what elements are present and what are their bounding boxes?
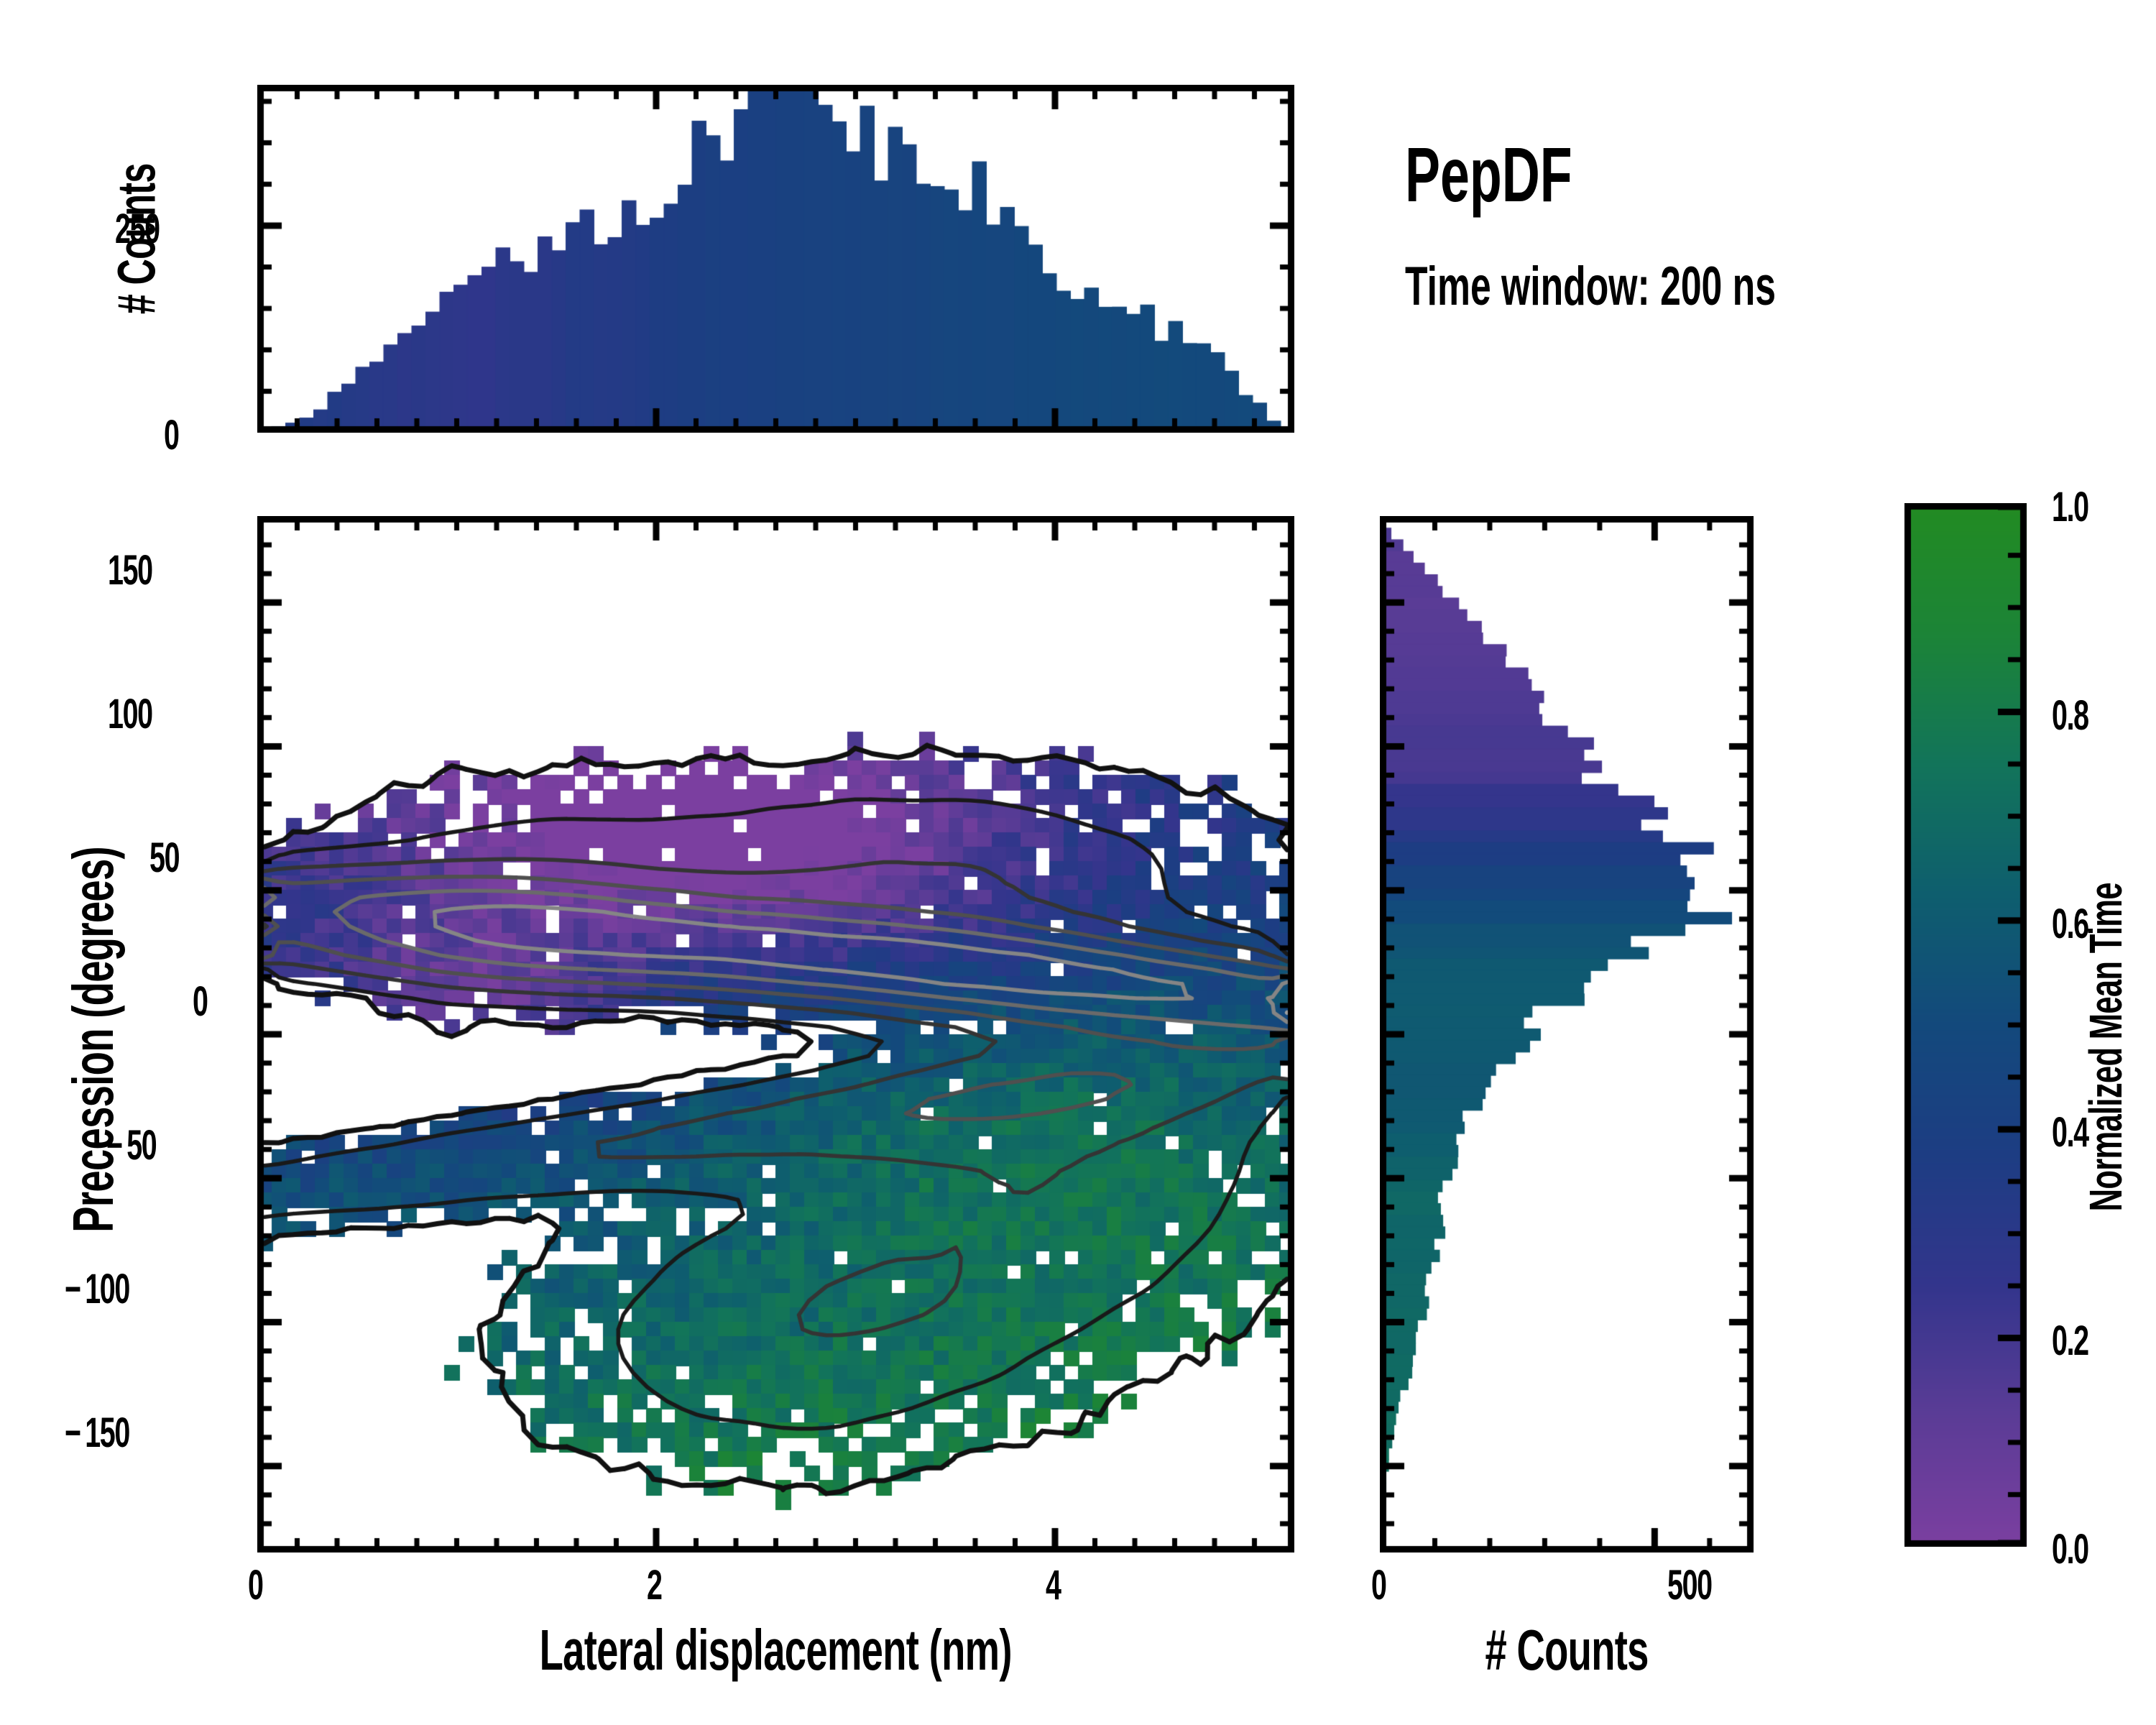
- figure-root: PepDF Time window: 200 ns # Counts 0 250…: [0, 0, 2156, 1725]
- colorbar-tick-0-6: 0.6: [2052, 900, 2106, 948]
- colorbar-axes: [1904, 503, 2048, 1547]
- top-histogram-axes: [257, 85, 1294, 433]
- right-histogram-axes: [1380, 516, 1754, 1552]
- figure-title: PepDF: [1405, 129, 1651, 219]
- colorbar-tick-0-0: 0.0: [2052, 1525, 2106, 1573]
- figure-subtitle: Time window: 200 ns: [1405, 255, 1950, 318]
- figure-subtitle-text: Time window: 200 ns: [1405, 255, 1776, 318]
- main-ytick-0: 0: [193, 977, 214, 1026]
- colorbar-label: Normalized Mean Time: [2079, 530, 2132, 1565]
- top-ytick-0: 0: [164, 411, 185, 459]
- main-ytick-neg150: − 150: [65, 1409, 160, 1457]
- main-xtick-2: 2: [647, 1561, 668, 1609]
- main-ytick-neg50: − 50: [106, 1121, 180, 1169]
- right-xtick-0: 0: [1371, 1561, 1393, 1609]
- main-ylabel: Precession (degrees): [60, 522, 126, 1557]
- colorbar-tick-0-2: 0.2: [2052, 1317, 2106, 1365]
- main-xlabel-text: Lateral displacement (nm): [540, 1617, 1012, 1683]
- main-ytick-50: 50: [149, 834, 193, 882]
- main-xlabel: Lateral displacement (nm): [257, 1617, 1294, 1683]
- figure-title-text: PepDF: [1405, 129, 1572, 219]
- main-ylabel-text: Precession (degrees): [60, 847, 126, 1233]
- right-histogram-xlabel-text: # Counts: [1485, 1617, 1648, 1683]
- colorbar-tick-0-8: 0.8: [2052, 691, 2106, 740]
- colorbar-tick-0-4: 0.4: [2052, 1108, 2106, 1156]
- right-xtick-500: 500: [1667, 1561, 1733, 1609]
- main-ytick-100: 100: [108, 690, 173, 738]
- top-ytick-250: 250: [115, 205, 180, 253]
- main-heatmap-axes: [257, 516, 1294, 1552]
- main-xtick-4: 4: [1046, 1561, 1067, 1609]
- colorbar-tick-1-0: 1.0: [2052, 483, 2106, 531]
- main-xtick-0: 0: [248, 1561, 269, 1609]
- main-ytick-150: 150: [108, 546, 173, 594]
- main-ytick-neg100: − 100: [65, 1265, 160, 1313]
- right-histogram-xlabel: # Counts: [1380, 1617, 1754, 1683]
